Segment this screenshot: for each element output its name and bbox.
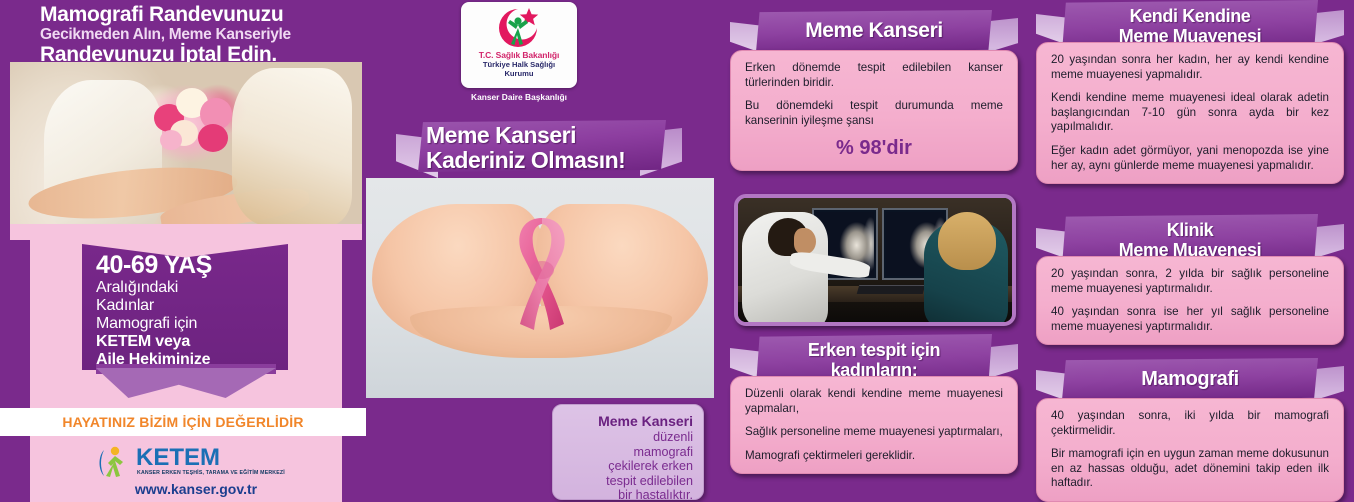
ministry-name-line-1: T.C. Sağlık Bakanlığı — [461, 50, 577, 60]
paragraph-1: Erken dönemde tespit edilebilen kanser t… — [745, 61, 1003, 90]
crescent-star-figure-icon — [491, 6, 547, 50]
paragraph-2: 40 yaşından sonra ise her yıl sağlık per… — [1051, 305, 1329, 334]
paragraph-2: Sağlık personeline meme muayenesi yaptır… — [745, 425, 1003, 440]
ketem-figure-icon — [96, 446, 132, 480]
banner-body: Mamografi — [1062, 358, 1318, 400]
ketem-wordmark: KETEM — [136, 446, 220, 470]
card-title-line-1: Kendi Kendine — [1130, 7, 1251, 26]
card-banner: Klinik Meme Muayenesi — [1036, 214, 1344, 260]
age-line-2: Aralığındaki — [96, 279, 278, 297]
card-banner: Kendi Kendine Meme Muayenesi — [1036, 0, 1344, 46]
card-body: 20 yaşından sonra, 2 yılda bir sağlık pe… — [1036, 256, 1344, 345]
center-banner-line-2: Kaderiniz Olmasın! — [418, 148, 666, 172]
infographic-poster: Mamografi Randevunuzu Gecikmeden Alın, M… — [0, 0, 1354, 502]
paragraph-1: 20 yaşından sonra, 2 yılda bir sağlık pe… — [1051, 267, 1329, 296]
value-statement-band: HAYATINIZ BİZİM İÇİN DEĞERLİDİR — [0, 408, 366, 436]
institution-line-2: Kurumu — [504, 69, 533, 78]
hands-with-pink-ribbon-photo — [366, 178, 714, 398]
center-note-heading: Meme Kanseri — [563, 413, 693, 430]
left-headline: Mamografi Randevunuzu Gecikmeden Alın, M… — [0, 0, 366, 62]
left-panel: Mamografi Randevunuzu Gecikmeden Alın, M… — [0, 0, 366, 502]
paragraph-1: 20 yaşından sonra her kadın, her ay kend… — [1051, 53, 1329, 82]
card-title-line-1: Klinik — [1167, 221, 1214, 240]
patient-hair — [938, 212, 996, 270]
paragraph-3: Eğer kadın adet görmüyor, yani menopozda… — [1051, 144, 1329, 173]
center-note-line-1: düzenli — [563, 430, 693, 445]
flower-bouquet — [150, 84, 240, 158]
card-title-meme-kanseri: Meme Kanseri — [805, 19, 943, 43]
paragraph-2: Bu dönemdeki tespit durumunda meme kanse… — [745, 99, 1003, 128]
website-url: www.kanser.gov.tr — [96, 481, 296, 497]
card-erken-tespit: Erken tespit için kadınların; Düzenli ol… — [730, 334, 1018, 474]
card-body: Düzenli olarak kendi kendine meme muayen… — [730, 376, 1018, 474]
center-note-card: Meme Kanseri düzenli mamografi çekilerek… — [552, 404, 704, 500]
ministry-logo: T.C. Sağlık Bakanlığı Türkiye Halk Sağlı… — [461, 2, 577, 88]
card-body: 40 yaşından sonra, iki yılda bir mamogra… — [1036, 398, 1344, 502]
paragraph-2: Kendi kendine meme muayenesi ideal olara… — [1051, 91, 1329, 135]
banner-body: Meme Kanseri Kaderiniz Olmasın! — [418, 120, 666, 172]
paragraph-2: Bir mamografi için en uygun zaman meme d… — [1051, 447, 1329, 491]
right-panel: Meme Kanseri Erken dönemde tespit edileb… — [714, 0, 1354, 502]
center-note-line-4: tespit edilebilen — [563, 474, 693, 489]
card-klinik-meme-muayenesi: Klinik Meme Muayenesi 20 yaşından sonra,… — [1036, 214, 1344, 345]
center-note-line-3: çekilerek erken — [563, 459, 693, 474]
card-title-line-1: Erken tespit için — [808, 341, 940, 360]
age-line-3: Kadınlar — [96, 297, 278, 315]
age-line-5: KETEM veya — [96, 333, 278, 351]
headline-line-1: Mamografi Randevunuzu — [40, 4, 358, 25]
couple-holding-hands-photo — [10, 62, 362, 224]
age-line-4: Mamografi için — [96, 315, 278, 333]
headline-line-2: Gecikmeden Alın, Meme Kanseriyle — [40, 25, 358, 44]
pink-awareness-ribbon-icon — [494, 212, 590, 336]
card-body: Erken dönemde tespit edilebilen kanser t… — [730, 50, 1018, 171]
value-statement-text: HAYATINIZ BİZİM İÇİN DEĞERLİDİR — [62, 414, 303, 430]
card-kendi-kendine-meme-muayenesi: Kendi Kendine Meme Muayenesi 20 yaşından… — [1036, 0, 1344, 184]
center-note-line-5: bir hastalıktır. — [563, 488, 693, 502]
center-banner: Meme Kanseri Kaderiniz Olmasın! — [396, 116, 682, 178]
center-panel: T.C. Sağlık Bakanlığı Türkiye Halk Sağlı… — [366, 0, 714, 502]
department-caption: Kanser Daire Başkanlığı — [444, 92, 594, 102]
center-note-line-2: mamografi — [563, 445, 693, 460]
ministry-name-line-2: Türkiye Halk Sağlığı Kurumu — [461, 60, 577, 78]
ketem-subtitle: KANSER ERKEN TEŞHİS, TARAMA VE EĞİTİM ME… — [137, 470, 285, 476]
paragraph-1: Düzenli olarak kendi kendine meme muayen… — [745, 387, 1003, 416]
card-title-mamografi: Mamografi — [1141, 368, 1239, 391]
ketem-logo: KETEM KANSER ERKEN TEŞHİS, TARAMA VE EĞİ… — [96, 446, 286, 480]
center-banner-line-1: Meme Kanseri — [418, 122, 666, 148]
card-banner: Erken tespit için kadınların; — [730, 334, 1018, 380]
card-mamografi: Mamografi 40 yaşından sonra, iki yılda b… — [1036, 356, 1344, 502]
card-meme-kanseri: Meme Kanseri Erken dönemde tespit edileb… — [730, 8, 1018, 171]
doctor-mammogram-photo — [734, 194, 1016, 326]
survival-rate-value: % 98'dir — [745, 137, 1003, 160]
card-body: 20 yaşından sonra her kadın, her ay kend… — [1036, 42, 1344, 184]
institution-line: Türkiye Halk Sağlığı — [483, 60, 555, 69]
card-banner: Meme Kanseri — [730, 8, 1018, 54]
banner-body: Meme Kanseri — [756, 10, 992, 52]
paragraph-3: Mamografi çektirmeleri gereklidir. — [745, 449, 1003, 464]
card-banner: Mamografi — [1036, 356, 1344, 402]
doctor-face — [794, 228, 816, 254]
keyboard — [857, 285, 926, 294]
paragraph-1: 40 yaşından sonra, iki yılda bir mamogra… — [1051, 409, 1329, 438]
